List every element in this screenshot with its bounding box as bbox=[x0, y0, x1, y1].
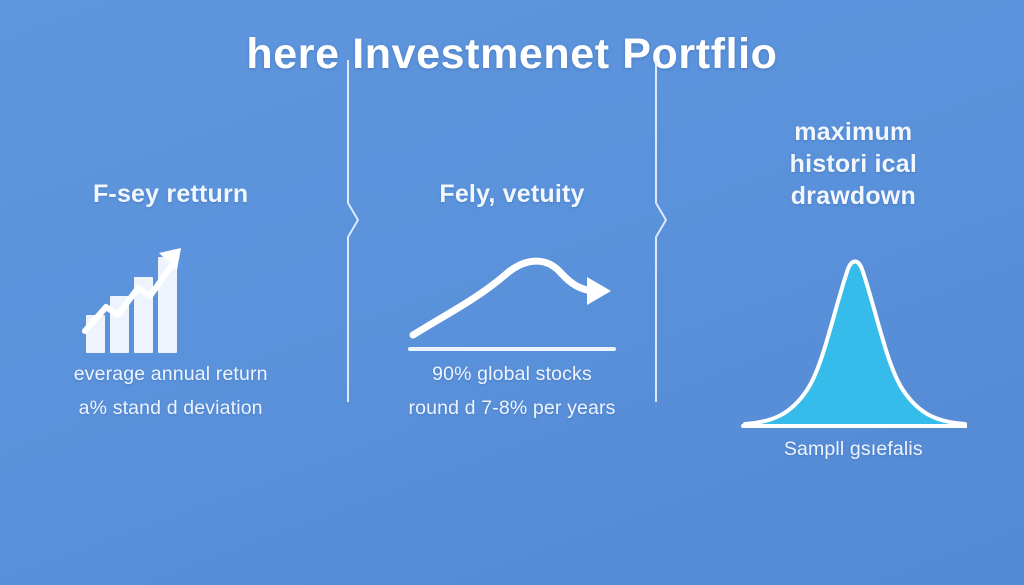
column-1-body: everage annual return a% stand d deviati… bbox=[0, 358, 341, 425]
column-2-body-line-2: round d 7-8% per years bbox=[341, 392, 682, 426]
bar-chart-growth-icon bbox=[82, 243, 190, 355]
page-title: here Investmenet Portflio bbox=[0, 30, 1024, 79]
column-2-body-line-1: 90% global stocks bbox=[341, 358, 682, 392]
column-3-figure bbox=[683, 240, 1024, 430]
column-1-body-line-2: a% stand d deviation bbox=[0, 392, 341, 426]
column-1-body-line-1: everage annual return bbox=[0, 358, 341, 392]
column-historical-return: F-sey retturn bbox=[0, 100, 341, 500]
columns-container: F-sey retturn bbox=[0, 100, 1024, 500]
column-3-body-line-1: Sampll gsıefalis bbox=[683, 433, 1024, 467]
column-3-heading-line-3: drawdown bbox=[683, 180, 1024, 212]
rising-curve-arrow-icon bbox=[405, 243, 619, 355]
column-2-figure bbox=[341, 240, 682, 355]
column-3-body: Sampll gsıefalis bbox=[683, 433, 1024, 467]
column-3-heading-line-1: maximum bbox=[683, 116, 1024, 148]
column-2-heading: Fely, vetuity bbox=[341, 178, 682, 210]
column-volatility: Fely, vetuity 90% global stocks round d … bbox=[341, 100, 682, 500]
column-2-body: 90% global stocks round d 7-8% per years bbox=[341, 358, 682, 425]
column-1-figure bbox=[0, 240, 341, 355]
infographic-slide: here Investmenet Portflio F-sey retturn bbox=[0, 0, 1024, 585]
column-3-heading-line-2: histori ical bbox=[683, 148, 1024, 180]
column-3-heading: maximum histori ical drawdown bbox=[683, 116, 1024, 212]
column-maximum-drawdown: maximum histori ical drawdown Sampll gsı… bbox=[683, 100, 1024, 500]
bell-curve-distribution-icon bbox=[739, 242, 967, 430]
column-1-heading: F-sey retturn bbox=[0, 178, 341, 210]
